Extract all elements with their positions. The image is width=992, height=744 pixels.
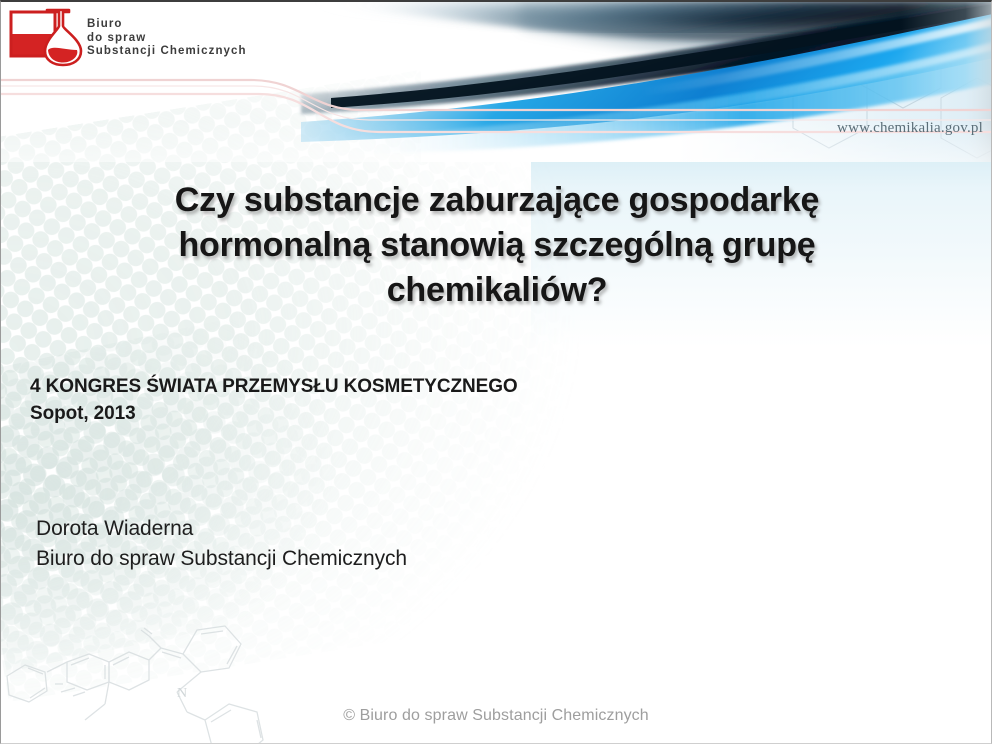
event-name: 4 KONGRES ŚWIATA PRZEMYSŁU KOSMETYCZNEGO — [30, 373, 518, 400]
presentation-title-slide: Biuro do spraw Substancji Chemicznych ww… — [0, 0, 992, 744]
slide-title: Czy substancje zaburzające gospodarkę ho… — [97, 178, 897, 313]
author-affiliation: Biuro do spraw Substancji Chemicznych — [36, 544, 407, 574]
organization-logo: Biuro do spraw Substancji Chemicznych — [7, 6, 277, 72]
logo-line-1: Biuro — [87, 18, 247, 32]
author-name: Dorota Wiaderna — [36, 514, 407, 544]
event-info: 4 KONGRES ŚWIATA PRZEMYSŁU KOSMETYCZNEGO… — [30, 373, 518, 427]
author-block: Dorota Wiaderna Biuro do spraw Substancj… — [36, 514, 407, 574]
event-location-year: Sopot, 2013 — [30, 400, 518, 427]
logo-line-3: Substancji Chemicznych — [87, 45, 247, 59]
logo-line-2: do spraw — [87, 32, 247, 46]
nitrogen-atom-label: N — [177, 686, 187, 701]
chemical-flask-polish-flag-logo-icon — [7, 6, 87, 70]
footer-copyright: © Biuro do spraw Substancji Chemicznych — [1, 707, 991, 725]
website-url[interactable]: www.chemikalia.gov.pl — [837, 120, 983, 137]
logo-wordmark: Biuro do spraw Substancji Chemicznych — [87, 18, 247, 59]
pink-divider-curves — [1, 62, 992, 172]
